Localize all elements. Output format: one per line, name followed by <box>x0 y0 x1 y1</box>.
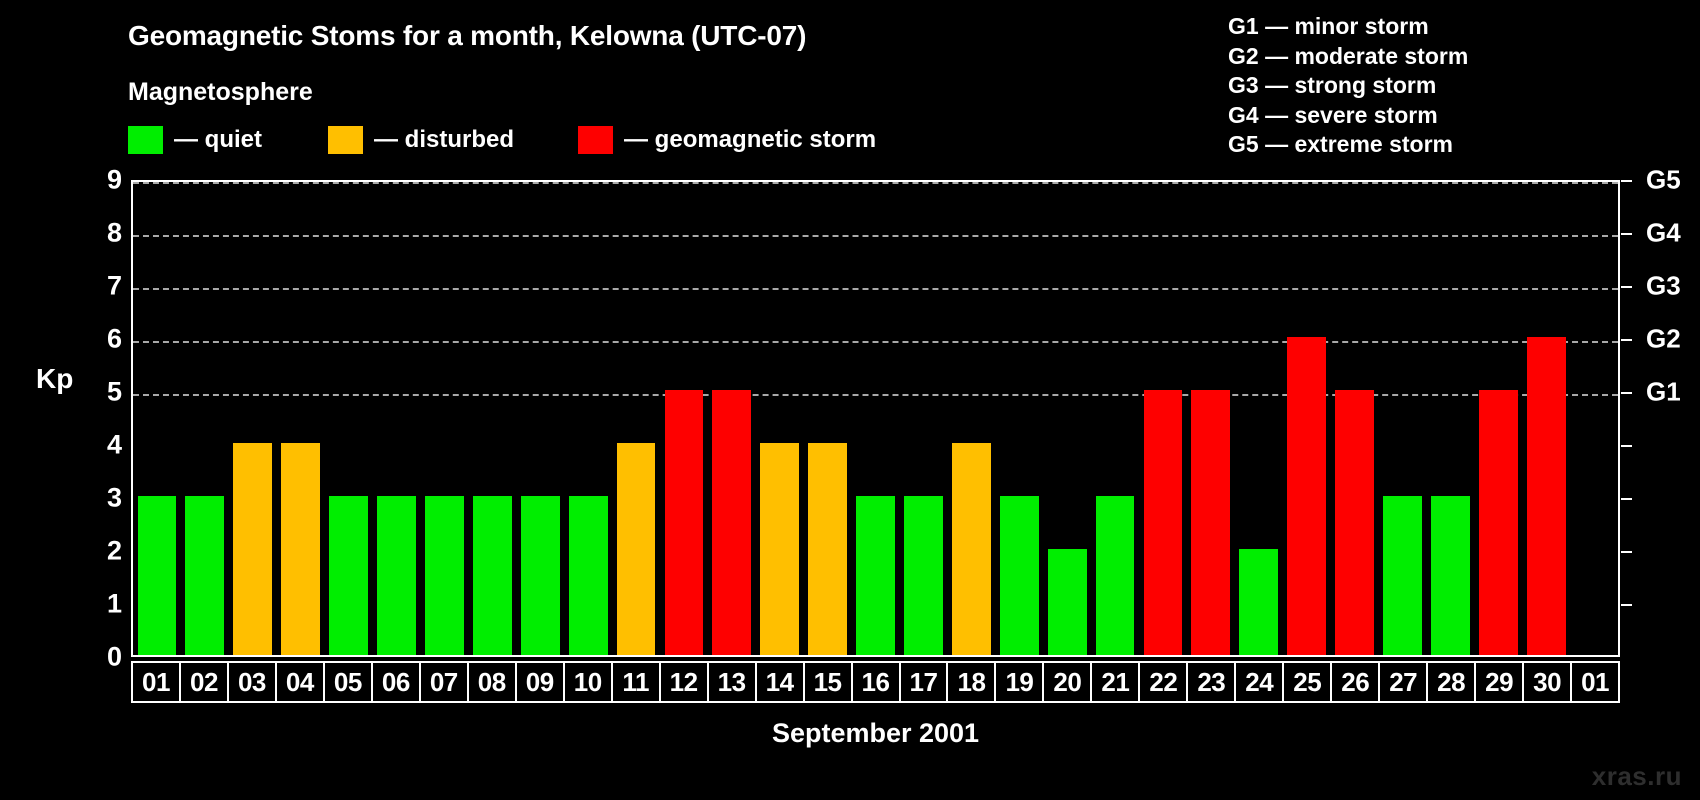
day-label-10[interactable]: 11 <box>611 661 661 703</box>
bar-slot-day-08[interactable] <box>468 182 516 655</box>
gscale-line-g2: G2 — moderate storm <box>1228 42 1468 72</box>
day-label-0[interactable]: 01 <box>131 661 181 703</box>
bar-day-20[interactable] <box>1048 549 1087 655</box>
bar-day-14[interactable] <box>760 443 799 655</box>
y-tick-label-9: 9 <box>107 167 122 194</box>
bar-slot-day-07[interactable] <box>420 182 468 655</box>
y-tick-label-1: 1 <box>107 591 122 618</box>
day-label-11[interactable]: 12 <box>659 661 709 703</box>
magnetosphere-legend: — quiet — disturbed — geomagnetic storm <box>128 125 876 155</box>
day-label-23[interactable]: 24 <box>1234 661 1284 703</box>
day-label-21[interactable]: 22 <box>1138 661 1188 703</box>
bar-slot-day-03[interactable] <box>229 182 277 655</box>
bar-slot-day-26[interactable] <box>1331 182 1379 655</box>
bar-day-11[interactable] <box>617 443 656 655</box>
day-label-2[interactable]: 03 <box>227 661 277 703</box>
gscale-line-g3: G3 — strong storm <box>1228 71 1468 101</box>
g-tick-mark-minor-1 <box>1621 604 1632 606</box>
gscale-line-g5: G5 — extreme storm <box>1228 130 1468 160</box>
y-axis-title: Kp <box>36 363 73 395</box>
bar-day-16[interactable] <box>856 496 895 655</box>
day-label-3[interactable]: 04 <box>275 661 325 703</box>
legend-item-quiet: — quiet <box>128 125 262 155</box>
day-label-13[interactable]: 14 <box>755 661 805 703</box>
day-label-20[interactable]: 21 <box>1090 661 1140 703</box>
bar-slot-day-27[interactable] <box>1379 182 1427 655</box>
bar-slot-day-29[interactable] <box>1474 182 1522 655</box>
g-tick-mark-minor-4 <box>1621 445 1632 447</box>
gscale-line-g1: G1 — minor storm <box>1228 12 1468 42</box>
day-label-27[interactable]: 28 <box>1426 661 1476 703</box>
g-tick-mark-g2 <box>1621 339 1632 341</box>
bar-day-05[interactable] <box>329 496 368 655</box>
bar-slot-day-28[interactable] <box>1426 182 1474 655</box>
bar-day-24[interactable] <box>1239 549 1278 655</box>
plot-area <box>131 180 1620 657</box>
y-tick-label-3: 3 <box>107 485 122 512</box>
y-tick-label-2: 2 <box>107 538 122 565</box>
bar-slot-day-20[interactable] <box>1043 182 1091 655</box>
bar-day-13[interactable] <box>712 390 751 655</box>
legend-swatch-quiet-icon <box>128 126 163 154</box>
bar-day-28[interactable] <box>1431 496 1470 655</box>
day-label-28[interactable]: 29 <box>1474 661 1524 703</box>
legend-label-disturbed: — disturbed <box>374 126 514 154</box>
y-tick-label-8: 8 <box>107 220 122 247</box>
bar-day-17[interactable] <box>904 496 943 655</box>
bar-slot-day-14[interactable] <box>756 182 804 655</box>
day-label-9[interactable]: 10 <box>563 661 613 703</box>
bars-layer <box>133 182 1618 655</box>
day-label-18[interactable]: 19 <box>994 661 1044 703</box>
bar-day-04[interactable] <box>281 443 320 655</box>
g-tick-label-g4: G4 <box>1646 218 1681 249</box>
bar-slot-day-12[interactable] <box>660 182 708 655</box>
bar-day-10[interactable] <box>569 496 608 655</box>
g-tick-mark-g3 <box>1621 286 1632 288</box>
day-label-7[interactable]: 08 <box>467 661 517 703</box>
legend-heading: Magnetosphere <box>128 78 313 107</box>
g-tick-label-g3: G3 <box>1646 271 1681 302</box>
legend-swatch-disturbed-icon <box>328 126 363 154</box>
day-label-1[interactable]: 02 <box>179 661 229 703</box>
bar-slot-day-15[interactable] <box>804 182 852 655</box>
bar-slot-day-05[interactable] <box>325 182 373 655</box>
bar-day-27[interactable] <box>1383 496 1422 655</box>
watermark: xras.ru <box>1592 761 1682 792</box>
g-tick-mark-minor-3 <box>1621 498 1632 500</box>
day-label-19[interactable]: 20 <box>1042 661 1092 703</box>
bar-day-07[interactable] <box>425 496 464 655</box>
g-tick-label-g1: G1 <box>1646 377 1681 408</box>
day-label-14[interactable]: 15 <box>803 661 853 703</box>
legend-swatch-storm-icon <box>578 126 613 154</box>
gscale-legend: G1 — minor storm G2 — moderate storm G3 … <box>1228 12 1468 160</box>
bar-day-03[interactable] <box>233 443 272 655</box>
y-tick-label-7: 7 <box>107 273 122 300</box>
day-label-16[interactable]: 17 <box>899 661 949 703</box>
bar-slot-day-23[interactable] <box>1187 182 1235 655</box>
g-tick-mark-g1 <box>1621 392 1632 394</box>
day-label-12[interactable]: 13 <box>707 661 757 703</box>
day-label-15[interactable]: 16 <box>851 661 901 703</box>
bar-slot-day-16[interactable] <box>852 182 900 655</box>
bar-day-08[interactable] <box>473 496 512 655</box>
page-title: Geomagnetic Stoms for a month, Kelowna (… <box>128 20 806 52</box>
bar-slot-day-09[interactable] <box>516 182 564 655</box>
bar-slot-day-21[interactable] <box>1091 182 1139 655</box>
day-label-5[interactable]: 06 <box>371 661 421 703</box>
bar-slot-day-30[interactable] <box>1522 182 1570 655</box>
legend-item-disturbed: — disturbed <box>328 125 514 155</box>
legend-label-storm: — geomagnetic storm <box>624 126 876 154</box>
legend-item-storm: — geomagnetic storm <box>578 125 876 155</box>
bar-slot-day-10[interactable] <box>564 182 612 655</box>
bar-slot-day-24[interactable] <box>1235 182 1283 655</box>
bar-day-09[interactable] <box>521 496 560 655</box>
bar-slot-day-11[interactable] <box>612 182 660 655</box>
day-label-29[interactable]: 30 <box>1522 661 1572 703</box>
day-label-30[interactable]: 01 <box>1570 661 1620 703</box>
bar-day-06[interactable] <box>377 496 416 655</box>
bar-slot-day-25[interactable] <box>1283 182 1331 655</box>
day-label-17[interactable]: 18 <box>946 661 996 703</box>
day-label-4[interactable]: 05 <box>323 661 373 703</box>
bar-slot-day-04[interactable] <box>277 182 325 655</box>
bar-day-30[interactable] <box>1527 337 1566 655</box>
bar-day-25[interactable] <box>1287 337 1326 655</box>
bar-slot-day-19[interactable] <box>995 182 1043 655</box>
g-tick-mark-minor-2 <box>1621 551 1632 553</box>
g-scale-axis: G1G2G3G4G5 <box>1621 180 1700 657</box>
bar-day-12[interactable] <box>665 390 704 655</box>
y-tick-label-5: 5 <box>107 379 122 406</box>
bar-day-22[interactable] <box>1144 390 1183 655</box>
y-tick-label-0: 0 <box>107 644 122 671</box>
bar-slot-day-02[interactable] <box>181 182 229 655</box>
legend-label-quiet: — quiet <box>174 126 262 154</box>
y-tick-label-6: 6 <box>107 326 122 353</box>
bar-day-26[interactable] <box>1335 390 1374 655</box>
x-axis-title: September 2001 <box>131 718 1620 749</box>
day-label-24[interactable]: 25 <box>1282 661 1332 703</box>
day-label-22[interactable]: 23 <box>1186 661 1236 703</box>
bar-slot-day-13[interactable] <box>708 182 756 655</box>
y-axis: 0123456789 <box>78 180 122 657</box>
bar-slot-day-06[interactable] <box>373 182 421 655</box>
bar-slot-day-01[interactable] <box>1570 182 1618 655</box>
bar-day-15[interactable] <box>808 443 847 655</box>
bar-day-21[interactable] <box>1096 496 1135 655</box>
g-tick-mark-g5 <box>1621 180 1632 182</box>
y-tick-label-4: 4 <box>107 432 122 459</box>
day-label-26[interactable]: 27 <box>1378 661 1428 703</box>
bar-slot-day-18[interactable] <box>947 182 995 655</box>
x-axis-day-labels: 0102030405060708091011121314151617181920… <box>131 661 1620 703</box>
gscale-line-g4: G4 — severe storm <box>1228 101 1468 131</box>
plot-inner <box>133 182 1618 655</box>
day-label-25[interactable]: 26 <box>1330 661 1380 703</box>
g-tick-mark-g4 <box>1621 233 1632 235</box>
bar-day-29[interactable] <box>1479 390 1518 655</box>
bar-slot-day-17[interactable] <box>900 182 948 655</box>
bar-day-01[interactable] <box>138 496 177 655</box>
bar-day-02[interactable] <box>185 496 224 655</box>
bar-day-19[interactable] <box>1000 496 1039 655</box>
bar-day-23[interactable] <box>1191 390 1230 655</box>
g-tick-label-g2: G2 <box>1646 324 1681 355</box>
day-label-8[interactable]: 09 <box>515 661 565 703</box>
bar-slot-day-01[interactable] <box>133 182 181 655</box>
g-tick-label-g5: G5 <box>1646 165 1681 196</box>
bar-day-18[interactable] <box>952 443 991 655</box>
day-label-6[interactable]: 07 <box>419 661 469 703</box>
bar-slot-day-22[interactable] <box>1139 182 1187 655</box>
